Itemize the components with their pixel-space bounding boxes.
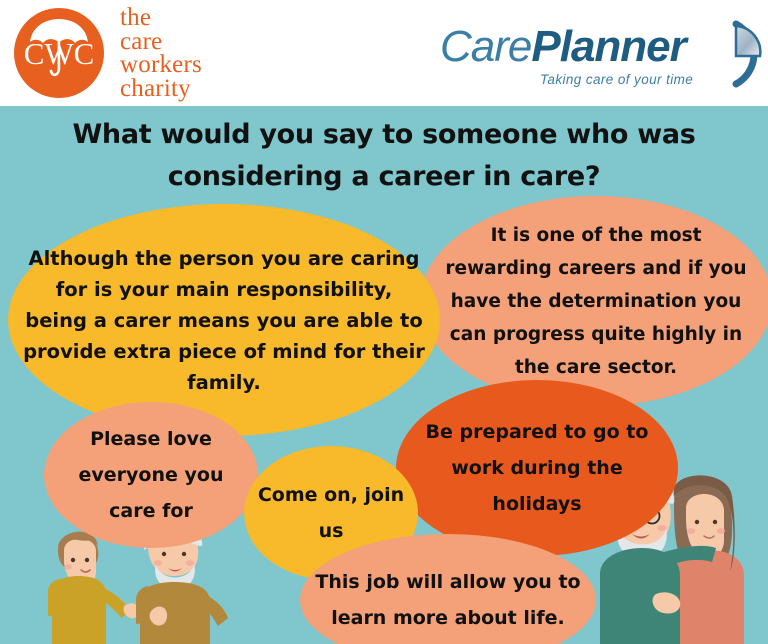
speech-bubble-text: This job will allow you to learn more ab… [314, 564, 582, 636]
cwc-wordmark-line-4: charity [120, 77, 270, 101]
speech-bubble-orange: Be prepared to go to work during the hol… [396, 380, 678, 556]
speech-bubble-text: Although the person you are caring for i… [22, 243, 426, 398]
speech-bubble-text: Come on, join us [254, 477, 408, 549]
page-title: What would you say to someone who was co… [44, 114, 724, 198]
poster-canvas: CWC the care workers charity CarePlanner… [0, 0, 768, 644]
cwc-wordmark-line-2: care [120, 30, 270, 54]
speech-bubble-peach-top: It is one of the most rewarding careers … [420, 196, 768, 406]
careplanner-logo: CarePlanner Taking care of your time [440, 14, 740, 96]
speech-bubble-yellow-main: Although the person you are caring for i… [8, 204, 440, 436]
cwc-monogram: CWC [14, 8, 104, 98]
cwc-wordmark: the care workers charity [120, 6, 270, 100]
cwc-monogram-text: CWC [24, 36, 95, 71]
cwc-wordmark-line-1: the [120, 6, 270, 30]
careplanner-name-light: Care [440, 22, 531, 71]
careplanner-name: CarePlanner [440, 22, 686, 72]
cwc-wordmark-line-3: workers [120, 53, 270, 77]
careplanner-name-bold: Planner [531, 22, 685, 71]
speech-bubble-peach-left: Please love everyone you care for [44, 402, 258, 548]
clock-arc-icon [696, 12, 768, 92]
header-bar: CWC the care workers charity CarePlanner… [0, 0, 768, 106]
speech-bubble-text: Please love everyone you care for [56, 421, 246, 529]
speech-bubble-text: It is one of the most rewarding careers … [438, 219, 754, 384]
speech-bubble-text: Be prepared to go to work during the hol… [412, 414, 662, 522]
cwc-logo: CWC [14, 8, 114, 100]
careplanner-tagline: Taking care of your time [540, 72, 693, 87]
